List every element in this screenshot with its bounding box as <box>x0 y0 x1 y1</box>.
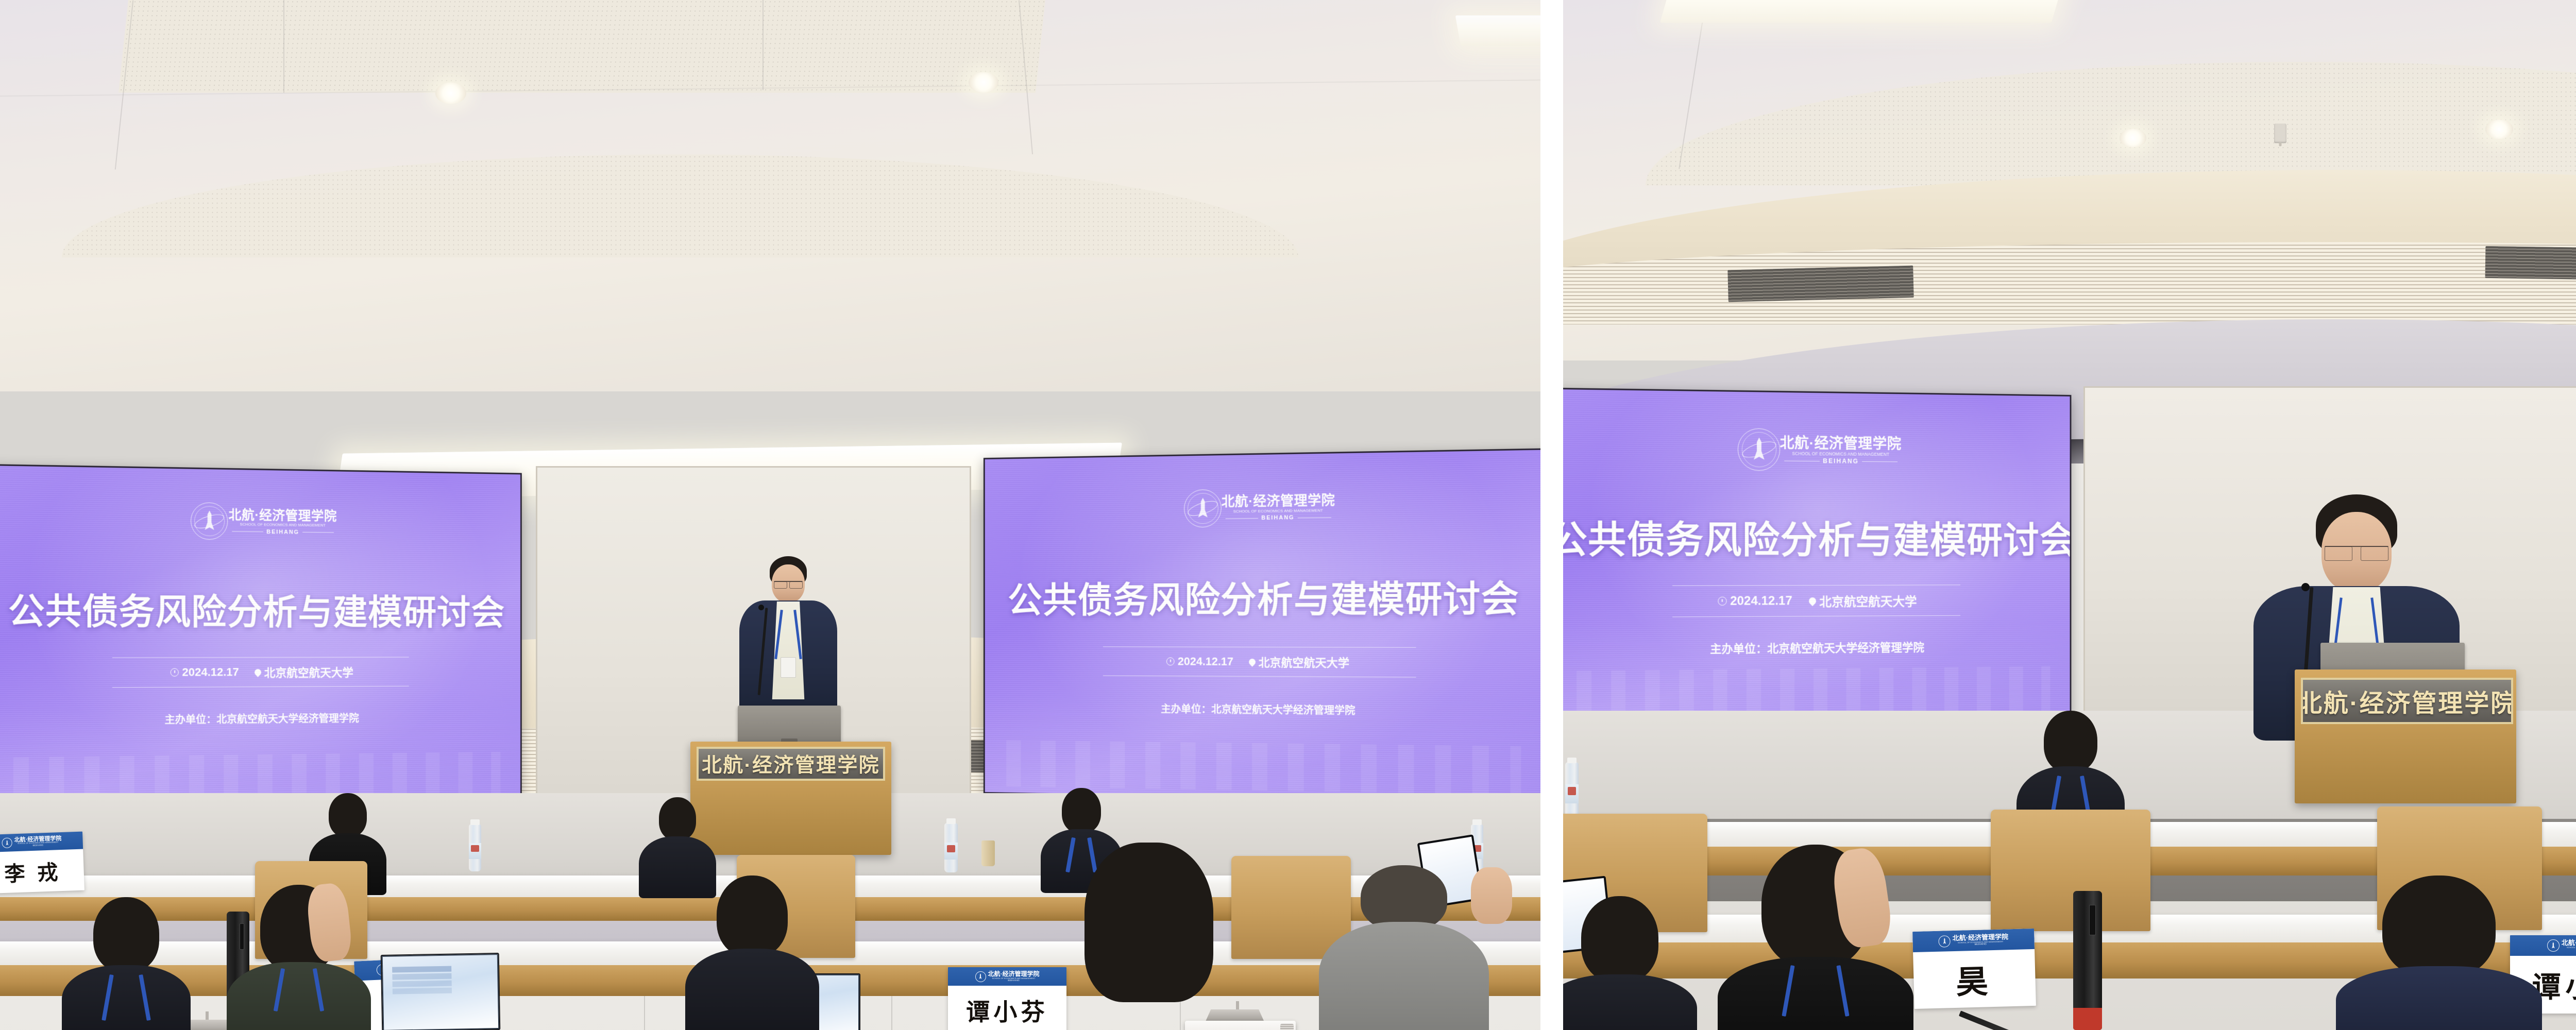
attendee-shoulders <box>2336 966 2542 1030</box>
paper-cup <box>981 840 995 866</box>
slide-date-chip: 2024.12.17 <box>1718 594 1792 609</box>
nameplate-header-text: 北航·经济管理学院 SCHOOL OF ECONOMICS AND MANAGE… <box>988 971 1040 982</box>
slide-logo-en: SCHOOL OF ECONOMICS AND MANAGEMENT <box>240 523 326 528</box>
slide-meta: 2024.12.17 北京航空航天大学 <box>1672 585 1960 617</box>
attendee-head <box>1361 865 1447 931</box>
nameplate-header-cn: 北航·经济管理学院 <box>988 971 1040 977</box>
podium-laptop <box>738 706 841 746</box>
nameplate-header-sub: BEIHANG <box>1975 943 1987 947</box>
slide-logo-sub: BEIHANG <box>1823 458 1859 465</box>
projection-screen-right: 北航·经济管理学院 SCHOOL OF ECONOMICS AND MANAGE… <box>984 448 1540 803</box>
slide-logo: 北航·经济管理学院 SCHOOL OF ECONOMICS AND MANAGE… <box>191 502 333 541</box>
two-panel-photo-composite: 北航·经济管理学院 SCHOOL OF ECONOMICS AND MANAGE… <box>0 0 2576 1030</box>
nameplate-name: 昊 <box>1913 949 2036 1009</box>
beihang-crest-icon <box>191 502 228 540</box>
attendee-front-3 <box>2336 875 2542 1030</box>
slide-logo-sub: BEIHANG <box>266 529 299 536</box>
attendee-front-2 <box>227 885 371 1030</box>
nameplate-header-text: 北航·经济管理学院 SCHOOL OF ECONOMICS AND MANAGE… <box>2562 939 2576 951</box>
nameplate-header: 北航·经济管理学院 SCHOOL OF ECONOMICS AND MANAGE… <box>1912 929 2035 952</box>
attendee-front-1 <box>62 897 191 1030</box>
attendee-shoulders <box>1563 974 1697 1030</box>
attendee-front-4 <box>1061 843 1236 1030</box>
thermos-flask <box>2073 891 2102 1030</box>
speaker-badge <box>781 657 796 678</box>
nameplate-hao: 北航·经济管理学院 SCHOOL OF ECONOMICS AND MANAGE… <box>1912 929 2036 1009</box>
water-bottle <box>1565 762 1579 818</box>
nameplate-header-sub: BEIHANG <box>1008 980 1020 982</box>
ceiling-downlight <box>2485 119 2513 139</box>
slide-venue-chip: 北京航空航天大学 <box>1249 654 1349 671</box>
attendee-head <box>93 897 159 972</box>
ceiling-perforated-panel <box>118 0 1046 93</box>
slide-title: 公共债务风险分析与建模研讨会 <box>1008 570 1519 623</box>
logo-rule-left <box>1225 518 1258 519</box>
nameplate-header-text: 北航·经济管理学院 SCHOOL OF ECONOMICS AND MANAGE… <box>14 836 61 848</box>
ceiling-linear-light <box>1455 15 1540 46</box>
nameplate-name: 李 戎 <box>0 849 84 894</box>
speaker-glasses-icon <box>2325 546 2388 558</box>
beihang-crest-icon <box>2 837 12 848</box>
slide-venue: 北京航空航天大学 <box>1259 654 1349 671</box>
attendee-shoulders <box>1319 922 1489 1030</box>
attendee-head <box>329 793 367 837</box>
attendee-head <box>1581 896 1658 983</box>
nameplate-header: 北航·经济管理学院 SCHOOL OF ECONOMICS AND MANAGE… <box>948 967 1066 986</box>
attendee-head <box>2044 711 2097 772</box>
slide-title: 公共债务风险分析与建模研讨会 <box>1563 508 2071 563</box>
logo-rule-left <box>1784 461 1820 462</box>
slide-title: 公共债务风险分析与建模研讨会 <box>8 582 505 634</box>
slide-meta: 2024.12.17 北京航空航天大学 <box>1103 646 1416 677</box>
nameplate-header-cn: 北航·经济管理学院 <box>2562 939 2576 947</box>
location-pin-icon <box>1807 596 1818 606</box>
slide-logo: 北航·经济管理学院 SCHOOL OF ECONOMICS AND MANAGE… <box>1184 488 1331 527</box>
attendee-laptop <box>381 953 501 1030</box>
nameplate-li-rong: 北航·经济管理学院 SCHOOL OF ECONOMICS AND MANAGE… <box>0 832 84 894</box>
attendee-shoulders <box>685 949 819 1030</box>
beihang-crest-icon <box>1738 428 1780 471</box>
slide-logo-cn: 北航·经济管理学院 <box>228 508 336 524</box>
slide-logo-text: 北航·经济管理学院 SCHOOL OF ECONOMICS AND MANAGE… <box>232 508 334 536</box>
slide-meta: 2024.12.17 北京航空航天大学 <box>112 657 409 688</box>
slide-logo-en: SCHOOL OF ECONOMICS AND MANAGEMENT <box>1233 508 1323 514</box>
beihang-crest-icon <box>2547 939 2560 952</box>
chair-back <box>1991 810 2150 931</box>
attendee-front-5 <box>1319 865 1489 1030</box>
sprinkler-icon <box>2274 124 2286 143</box>
clock-icon <box>1718 597 1726 606</box>
slide-meta-row: 2024.12.17 北京航空航天大学 <box>171 658 353 687</box>
slide-venue: 北京航空航天大学 <box>264 664 353 680</box>
slide-logo-cn: 北航·经济管理学院 <box>1222 493 1335 509</box>
slide-logo-text: 北航·经济管理学院 SCHOOL OF ECONOMICS AND MANAGE… <box>1784 435 1897 466</box>
slide-date-chip: 2024.12.17 <box>171 665 239 679</box>
slide-meta-row: 2024.12.17 北京航空航天大学 <box>1166 647 1349 677</box>
podium-sign: 北航·经济管理学院 <box>2301 678 2513 724</box>
water-bottle <box>469 824 481 871</box>
meta-rule-bottom <box>112 686 409 688</box>
clock-icon <box>171 668 179 676</box>
microphone-head-icon <box>758 605 764 610</box>
logo-rule-right <box>1298 517 1331 518</box>
attendee-head <box>2382 875 2496 978</box>
logo-rule-right <box>302 532 333 533</box>
slide-logo-sub-row: BEIHANG <box>232 528 334 536</box>
attendee-lanyard <box>1782 965 1849 1017</box>
nameplate-name: 谭小芬 <box>948 986 1066 1030</box>
ceiling-downlight <box>435 82 466 104</box>
slide-venue-chip: 北京航空航天大学 <box>255 664 353 681</box>
nameplate-header-text: 北航·经济管理学院 SCHOOL OF ECONOMICS AND MANAGE… <box>1953 934 2009 947</box>
podium-sign: 北航·经济管理学院 <box>697 747 885 781</box>
photo-panel-left: 北航·经济管理学院 SCHOOL OF ECONOMICS AND MANAGE… <box>0 0 1540 1030</box>
attendee-front-3 <box>685 875 819 1030</box>
ceiling-seam <box>283 0 284 93</box>
slide-meta-row: 2024.12.17 北京航空航天大学 <box>1718 586 1917 616</box>
beihang-crest-icon <box>1184 489 1222 527</box>
speaker-glasses-icon <box>774 581 803 587</box>
attendee-head <box>659 797 696 840</box>
nameplate-header-sub: BEIHANG <box>32 845 43 847</box>
slide-venue-chip: 北京航空航天大学 <box>1809 591 1917 610</box>
slide-logo-cn: 北航·经济管理学院 <box>1780 435 1902 453</box>
attendee-head <box>1084 843 1213 1002</box>
attendee-lanyard <box>274 968 324 1011</box>
slide-date: 2024.12.17 <box>1178 655 1233 668</box>
photo-panel-right: 北航·经济管理学院 SCHOOL OF ECONOMICS AND MANAGE… <box>1563 0 2576 1030</box>
microphone-head-icon <box>2301 583 2310 591</box>
slide-date-chip: 2024.12.17 <box>1166 655 1233 668</box>
attendee-head <box>717 875 788 957</box>
projection-screen-left: 北航·经济管理学院 SCHOOL OF ECONOMICS AND MANAGE… <box>1563 388 2071 725</box>
slide-date: 2024.12.17 <box>182 665 239 679</box>
slide-logo-sub: BEIHANG <box>1261 514 1294 521</box>
projection-screen-left: 北航·经济管理学院 SCHOOL OF ECONOMICS AND MANAGE… <box>0 464 522 813</box>
location-pin-icon <box>1247 657 1257 666</box>
nameplate-tan-xiaofen: 北航·经济管理学院 SCHOOL OF ECONOMICS AND MANAGE… <box>948 967 1066 1030</box>
ceiling-downlight <box>2120 129 2146 147</box>
ceiling-seam <box>762 0 764 90</box>
logo-rule-left <box>232 531 263 533</box>
clock-icon <box>1166 657 1175 665</box>
slide-logo-sub-row: BEIHANG <box>1784 458 1897 466</box>
air-vent-dark-section <box>2485 246 2576 280</box>
nameplate-header-en: SCHOOL OF ECONOMICS AND MANAGEMENT <box>2567 947 2576 949</box>
attendee-lanyard <box>103 974 150 1021</box>
meta-rule-bottom <box>1672 615 1960 617</box>
beihang-crest-icon <box>1939 935 1951 948</box>
meta-rule-bottom <box>1103 675 1416 677</box>
logo-rule-right <box>1862 461 1897 462</box>
speaker-lanyard <box>769 610 807 659</box>
ceiling-linear-light <box>1660 0 2064 23</box>
attendee-front-1 <box>1563 896 1697 1030</box>
panel-divider <box>1540 0 1563 1030</box>
location-pin-icon <box>253 667 262 677</box>
water-bottle <box>944 823 958 872</box>
slide-logo-en: SCHOOL OF ECONOMICS AND MANAGEMENT <box>1792 451 1889 457</box>
slide-logo-sub-row: BEIHANG <box>1225 514 1331 522</box>
air-vent-dark-section <box>1727 266 1913 302</box>
slide-logo-text: 北航·经济管理学院 SCHOOL OF ECONOMICS AND MANAGE… <box>1225 493 1331 522</box>
beihang-crest-icon <box>975 971 986 982</box>
attendee-head <box>1062 788 1101 833</box>
slide-logo: 北航·经济管理学院 SCHOOL OF ECONOMICS AND MANAGE… <box>1738 428 1897 472</box>
slide-venue: 北京航空航天大学 <box>1819 591 1917 610</box>
slide-date: 2024.12.17 <box>1730 594 1792 609</box>
ceiling-downlight <box>969 72 998 93</box>
